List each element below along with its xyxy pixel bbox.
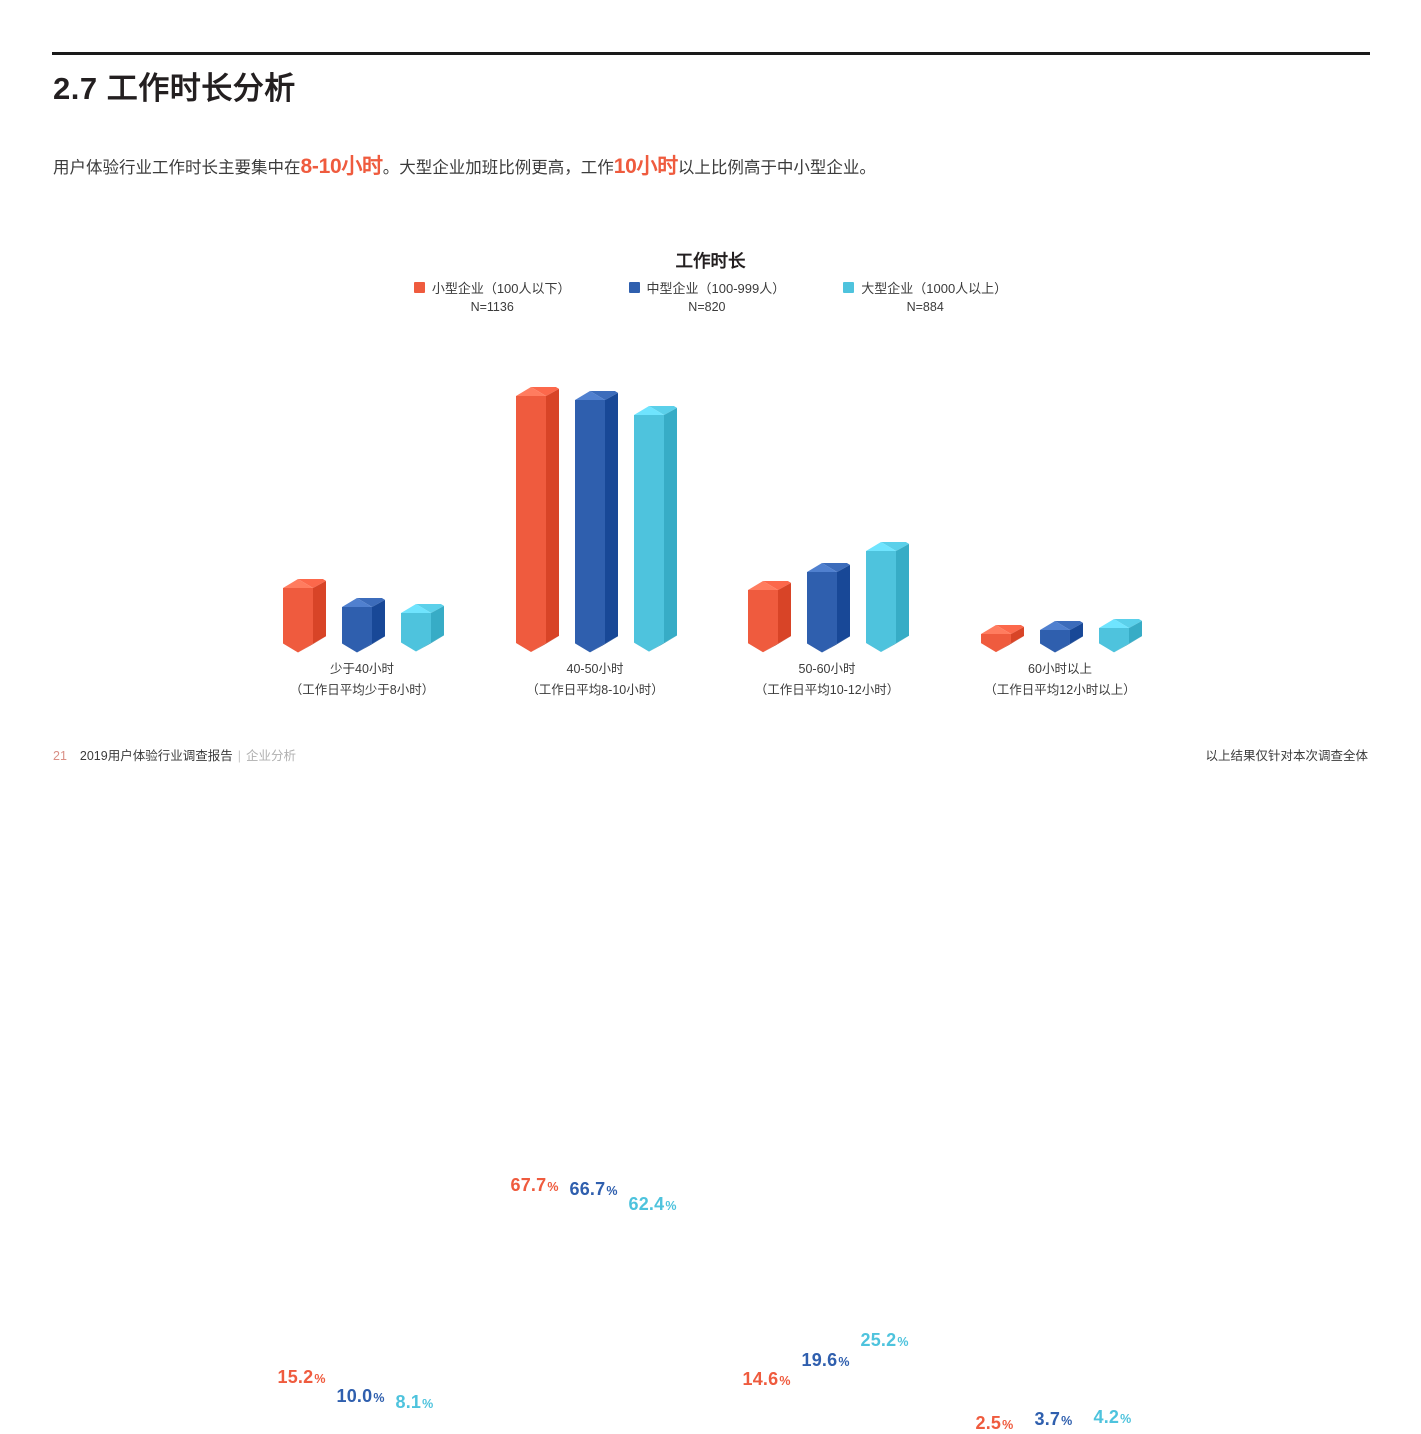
data-label-percent-sign: % xyxy=(897,1335,908,1349)
data-label-value: 15.2 xyxy=(278,1367,314,1387)
bar-3-1[interactable] xyxy=(1039,621,1084,654)
data-label-percent-sign: % xyxy=(1002,1418,1013,1432)
data-label-percent-sign: % xyxy=(422,1397,433,1411)
data-label-percent-sign: % xyxy=(1061,1414,1072,1428)
bar-0-1[interactable] xyxy=(341,598,386,654)
footer-report-title: 2019用户体验行业调查报告 xyxy=(80,749,233,763)
footer-left: 21 2019用户体验行业调查报告|企业分析 xyxy=(53,745,296,764)
bar-0-0[interactable] xyxy=(282,579,327,654)
chart-plot-area: 15.2%10.0%8.1%少于40小时（工作日平均少于8小时）67.7%66.… xyxy=(0,0,1421,816)
data-label-percent-sign: % xyxy=(665,1199,676,1213)
data-label-1-0: 67.7% xyxy=(511,1175,559,1196)
category-label-3: 60小时以上（工作日平均12小时以上） xyxy=(920,659,1200,700)
data-label-value: 14.6 xyxy=(743,1369,779,1389)
bar-1-1[interactable] xyxy=(574,391,619,654)
data-label-1-1: 66.7% xyxy=(570,1179,618,1200)
data-label-value: 25.2 xyxy=(861,1330,897,1350)
bar-2-0[interactable] xyxy=(747,581,792,654)
footer-note: 以上结果仅针对本次调查全体 xyxy=(1205,745,1368,764)
data-label-percent-sign: % xyxy=(373,1391,384,1405)
data-label-0-0: 15.2% xyxy=(278,1367,326,1388)
data-label-3-0: 2.5% xyxy=(976,1413,1014,1434)
bar-3-2[interactable] xyxy=(1098,619,1143,654)
data-label-value: 8.1 xyxy=(396,1392,422,1412)
data-label-2-1: 19.6% xyxy=(802,1350,850,1371)
data-label-2-0: 14.6% xyxy=(743,1369,791,1390)
data-label-value: 2.5 xyxy=(976,1413,1002,1433)
bar-1-2[interactable] xyxy=(633,406,678,654)
bar-3-0[interactable] xyxy=(980,625,1025,654)
data-label-percent-sign: % xyxy=(779,1374,790,1388)
data-label-percent-sign: % xyxy=(1120,1412,1131,1426)
category-label-sub: （工作日平均12小时以上） xyxy=(920,680,1200,701)
data-label-0-2: 8.1% xyxy=(396,1392,434,1413)
data-label-percent-sign: % xyxy=(838,1355,849,1369)
bar-2-1[interactable] xyxy=(806,563,851,655)
data-label-1-2: 62.4% xyxy=(629,1194,677,1215)
data-label-percent-sign: % xyxy=(314,1372,325,1386)
footer-title-block: 2019用户体验行业调查报告|企业分析 xyxy=(80,745,296,764)
bar-1-0[interactable] xyxy=(515,387,560,654)
data-label-value: 3.7 xyxy=(1035,1409,1061,1429)
data-label-0-1: 10.0% xyxy=(337,1386,385,1407)
chart-container: 工作时长 小型企业（100人以下）N=1136中型企业（100-999人）N=8… xyxy=(0,0,1421,816)
data-label-value: 10.0 xyxy=(337,1386,373,1406)
data-label-value: 66.7 xyxy=(570,1179,606,1199)
data-label-percent-sign: % xyxy=(547,1180,558,1194)
footer-subsection: 企业分析 xyxy=(246,749,296,763)
data-label-3-2: 4.2% xyxy=(1094,1407,1132,1428)
page-number: 21 xyxy=(53,749,67,763)
data-label-2-2: 25.2% xyxy=(861,1330,909,1351)
data-label-percent-sign: % xyxy=(606,1184,617,1198)
bar-0-2[interactable] xyxy=(400,604,445,654)
data-label-value: 19.6 xyxy=(802,1350,838,1370)
footer-separator: | xyxy=(238,749,241,763)
bar-2-2[interactable] xyxy=(865,542,910,654)
data-label-3-1: 3.7% xyxy=(1035,1409,1073,1430)
category-label-main: 60小时以上 xyxy=(920,659,1200,680)
data-label-value: 67.7 xyxy=(511,1175,547,1195)
data-label-value: 4.2 xyxy=(1094,1407,1120,1427)
data-label-value: 62.4 xyxy=(629,1194,665,1214)
